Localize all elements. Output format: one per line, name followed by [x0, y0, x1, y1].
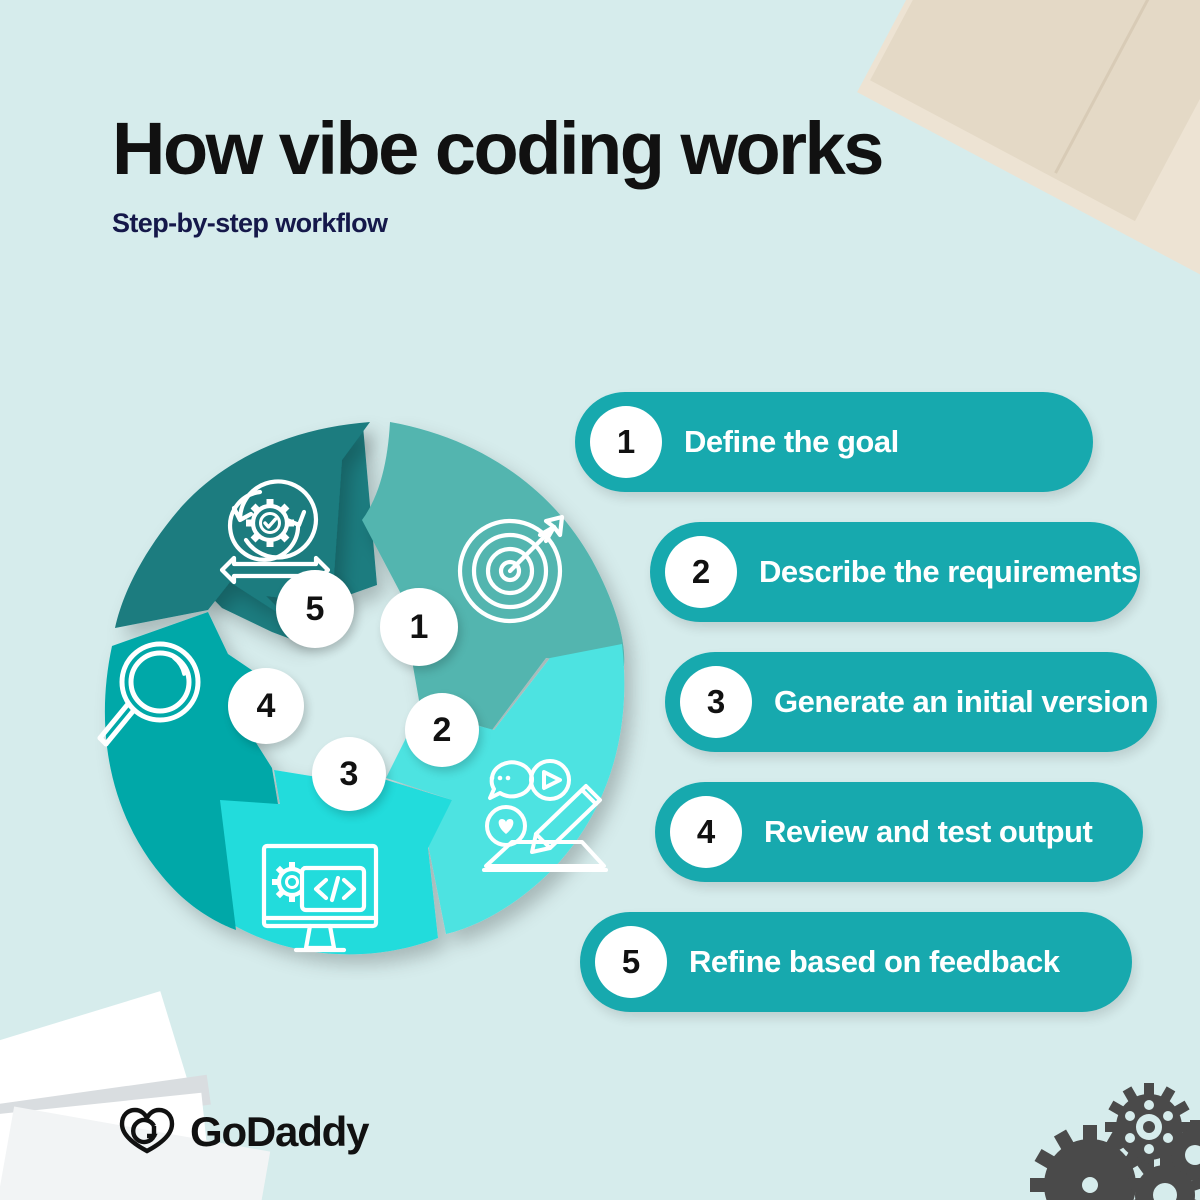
- hub-number-label: 2: [433, 711, 452, 750]
- step-number: 3: [707, 683, 725, 721]
- step-number-badge-2: 2: [665, 536, 737, 608]
- step-label-5: Refine based on feedback: [689, 944, 1059, 980]
- gears-decoration: [1015, 1075, 1200, 1200]
- step-pill-5[interactable]: 5 Refine based on feedback: [580, 912, 1132, 1012]
- gears-icon: [1015, 1075, 1200, 1200]
- infographic-canvas: How vibe coding works Step-by-step workf…: [0, 0, 1200, 1200]
- cycle-wheel-diagram: 1 2 3 4 5: [80, 400, 650, 980]
- hub-number-label: 1: [410, 608, 429, 647]
- hub-number-label: 4: [257, 687, 276, 726]
- step-label-2: Describe the requirements: [759, 554, 1138, 590]
- step-number-badge-4: 4: [670, 796, 742, 868]
- wheel-svg: [80, 400, 650, 980]
- step-number-badge-3: 3: [680, 666, 752, 738]
- page-subtitle: Step-by-step workflow: [112, 208, 882, 239]
- wheel-hub-number-2[interactable]: 2: [405, 693, 479, 767]
- step-pill-1[interactable]: 1 Define the goal: [575, 392, 1093, 492]
- step-pill-3[interactable]: 3 Generate an initial version: [665, 652, 1157, 752]
- step-number: 4: [697, 813, 715, 851]
- hub-number-label: 5: [306, 590, 325, 629]
- wheel-hub-number-3[interactable]: 3: [312, 737, 386, 811]
- step-label-3: Generate an initial version: [774, 684, 1148, 720]
- pencil-and-paper-decoration: [0, 1000, 260, 1200]
- brand-footer: GoDaddy: [118, 1106, 368, 1158]
- wheel-hub-number-4[interactable]: 4: [228, 668, 304, 744]
- hub-number-label: 3: [340, 755, 359, 794]
- page-title: How vibe coding works: [112, 112, 882, 186]
- brand-name: GoDaddy: [190, 1108, 368, 1156]
- step-number-badge-1: 1: [590, 406, 662, 478]
- step-number: 5: [622, 943, 640, 981]
- step-label-1: Define the goal: [684, 424, 899, 460]
- step-pill-2[interactable]: 2 Describe the requirements: [650, 522, 1140, 622]
- step-number-badge-5: 5: [595, 926, 667, 998]
- step-pill-4[interactable]: 4 Review and test output: [655, 782, 1143, 882]
- step-number: 1: [617, 423, 635, 461]
- step-label-4: Review and test output: [764, 814, 1092, 850]
- godaddy-heart-logo: [118, 1106, 176, 1158]
- step-number: 2: [692, 553, 710, 591]
- header: How vibe coding works Step-by-step workf…: [112, 112, 882, 239]
- wheel-hub-number-1[interactable]: 1: [380, 588, 458, 666]
- wheel-hub-number-5[interactable]: 5: [276, 570, 354, 648]
